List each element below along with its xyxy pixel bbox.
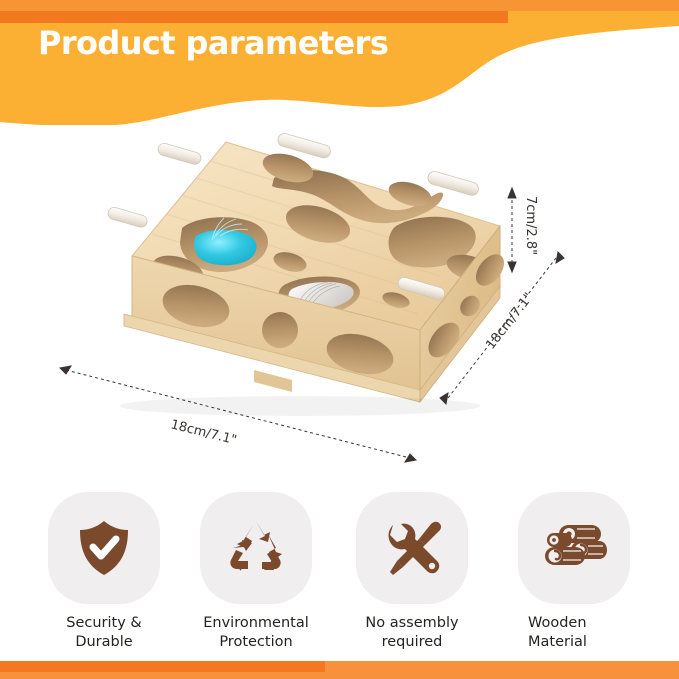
dimension-width-label: 18cm/7.1" <box>169 417 238 448</box>
feature-badge <box>48 492 160 604</box>
recycle-icon <box>224 516 288 580</box>
product-image-area: 7cm/2.8" 18cm/7.1" 18cm/7.1" <box>0 118 679 478</box>
feature-item-wooden-material[interactable]: Wooden Material <box>512 492 672 664</box>
dimension-height: 7cm/2.8" <box>508 188 538 272</box>
feature-highlights: Security & Durable Environmental Protect… <box>0 492 679 664</box>
feature-item-no-assembly[interactable]: No assembly required <box>332 492 492 664</box>
tab-clip <box>107 206 149 229</box>
page-footer <box>0 661 679 679</box>
feature-label: No assembly required <box>332 614 492 652</box>
feature-label: Environmental Protection <box>176 614 336 652</box>
feature-item-environmental[interactable]: Environmental Protection <box>176 492 336 664</box>
page-title: Product parameters <box>38 24 388 62</box>
product-body <box>107 132 510 416</box>
dimension-height-label: 7cm/2.8" <box>523 196 538 255</box>
footer-accent-stripe <box>0 661 325 672</box>
header-shape <box>0 0 679 125</box>
product-shadow <box>120 396 480 416</box>
feature-label: Security & Durable <box>24 614 184 652</box>
front-foot-notch <box>254 370 292 392</box>
shield-check-icon <box>73 517 135 579</box>
feature-item-security[interactable]: Security & Durable <box>24 492 184 664</box>
feature-badge <box>518 492 630 604</box>
feature-label: Wooden Material <box>512 614 672 652</box>
header-top-strip-right <box>508 0 679 11</box>
wrench-screwdriver-icon <box>381 517 443 579</box>
page-header: Product parameters <box>0 0 679 125</box>
tab-clip <box>157 142 203 166</box>
header-accent-stripe <box>0 11 508 23</box>
wood-logs-icon <box>541 518 607 578</box>
wooden-cat-puzzle-box-illustration: 7cm/2.8" 18cm/7.1" 18cm/7.1" <box>0 118 679 478</box>
tab-clip <box>426 170 480 197</box>
feature-badge <box>200 492 312 604</box>
feature-badge <box>356 492 468 604</box>
teal-feather-toy <box>194 230 257 265</box>
